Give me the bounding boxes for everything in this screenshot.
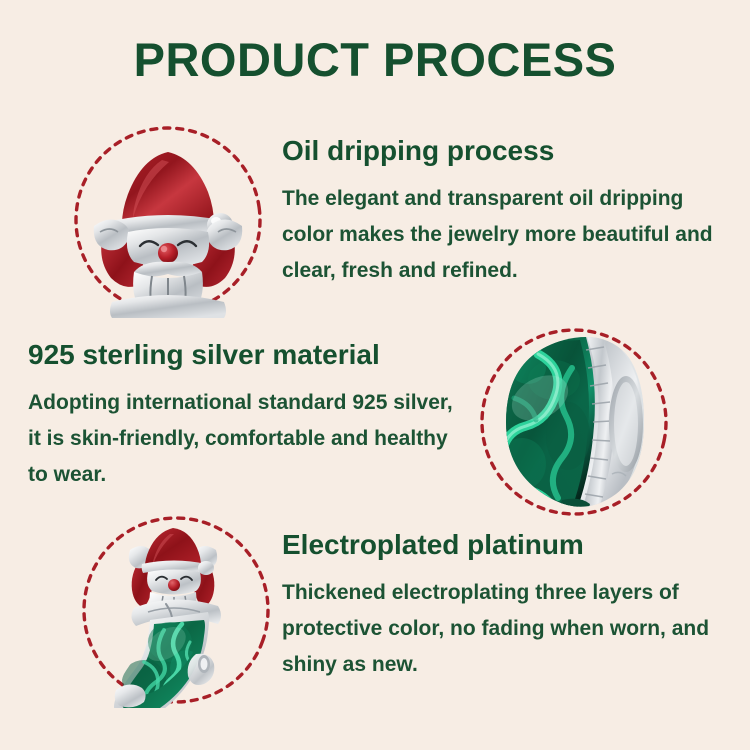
christmas-stocking-charm: [78, 512, 274, 708]
green-enamel-macro-detail-figure: [476, 324, 672, 520]
green-enamel-macro-detail: [476, 324, 672, 520]
section-oil-dripping: Oil dripping process The elegant and tra…: [0, 118, 750, 323]
section-body: The elegant and transparent oil dripping…: [282, 181, 738, 289]
text-block-electroplated-platinum: Electroplated platinum Thickened electro…: [282, 530, 740, 683]
section-heading: Oil dripping process: [282, 136, 738, 167]
section-electroplated-platinum: Electroplated platinum Thickened electro…: [0, 508, 750, 718]
section-heading: Electroplated platinum: [282, 530, 740, 561]
page-title: PRODUCT PROCESS: [0, 36, 750, 83]
text-block-oil-dripping: Oil dripping process The elegant and tra…: [282, 136, 738, 289]
text-block-sterling-silver: 925 sterling silver material Adopting in…: [28, 340, 468, 493]
santa-claus-silver-charm: [70, 122, 266, 318]
section-heading: 925 sterling silver material: [28, 340, 468, 371]
santa-claus-silver-charm-figure: [70, 122, 266, 318]
christmas-stocking-charm-figure: [78, 512, 274, 708]
section-body: Thickened electroplating three layers of…: [282, 575, 740, 683]
section-sterling-silver: 925 sterling silver material Adopting in…: [0, 320, 750, 525]
section-body: Adopting international standard 925 silv…: [28, 385, 468, 493]
product-process-infographic: PRODUCT PROCESS: [0, 0, 750, 750]
